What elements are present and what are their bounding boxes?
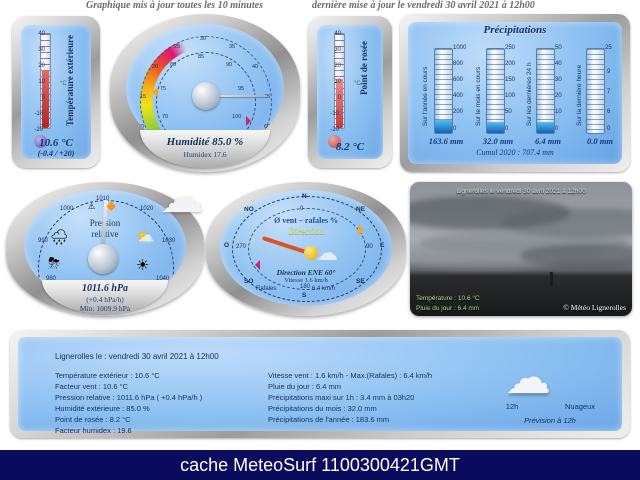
precip-label-year: Sur l'année en cours bbox=[422, 54, 429, 126]
header-right-note: dernière mise à jour le vendredi 30 avri… bbox=[312, 0, 535, 11]
precip-label-hour: Sur la dernière heure bbox=[576, 54, 583, 126]
status-bar-text: cache MeteoSurf 1100300421GMT bbox=[0, 450, 640, 480]
temperature-unit: °C bbox=[60, 81, 67, 87]
forecast-text: Nuageux bbox=[550, 402, 610, 411]
dewpoint-panel[interactable]: 40 30 20 10 0 -10 -20 Point de rosée °C … bbox=[308, 16, 392, 168]
wind-speed-value: Vitesse 1.6 km/h bbox=[220, 277, 392, 284]
summary-right-line-2: Précipitations maxi sur 1h : 3.4 mm à 03… bbox=[268, 392, 432, 403]
temperature-panel[interactable]: 40 30 20 10 0 -10 -20 Température extéri… bbox=[12, 16, 100, 168]
precip-tube-hour bbox=[586, 48, 605, 134]
precip-value-hour: 0.0 mm bbox=[572, 136, 628, 146]
temp-scale-40: 40 bbox=[29, 31, 45, 37]
precip-tube-month bbox=[486, 48, 505, 134]
summary-right-line-0: Vitesse vent : 1.6 km/h - Max.(Rafales) … bbox=[268, 370, 432, 381]
precip-year-tick-400: 400 bbox=[453, 93, 463, 99]
compass-deg-90: 90 bbox=[366, 244, 373, 250]
compass-deg-0: 0 bbox=[300, 206, 303, 212]
storm-icon: ⛈ bbox=[48, 256, 60, 271]
humidity-tick-15: 15 bbox=[140, 94, 146, 100]
wind-compass[interactable]: N NE E SE S SO O NO 0 90 180 270 Ø vent … bbox=[206, 182, 406, 316]
precip-fill-month bbox=[487, 122, 504, 133]
summary-right-line-1: Pluie du jour : 6.4 mm bbox=[268, 381, 432, 392]
weather-dashboard: Graphique mis à jour toutes les 10 minut… bbox=[0, 0, 640, 480]
precip-year-tick-800: 800 bbox=[453, 61, 463, 67]
precip-month-tick-50: 50 bbox=[505, 109, 512, 115]
summary-left-line-2: Pression relative : 1011.6 hPa ( +0.4 hP… bbox=[55, 392, 202, 403]
precipitation-panel[interactable]: Précipitations Sur l'année en cours 1000… bbox=[400, 14, 630, 172]
temp-scale-m10: -10 bbox=[27, 111, 43, 117]
webcam-overlay-temperature: Température : 10.6 °C bbox=[416, 295, 480, 302]
humidity-tick-35: 35 bbox=[229, 44, 235, 50]
status-bar: cache MeteoSurf 1100300421GMT bbox=[0, 450, 640, 480]
wind-gust-value: 6.4 km/h bbox=[312, 286, 335, 292]
header-left-note: Graphique mis à jour toutes les 10 minut… bbox=[86, 0, 263, 11]
forecast-hour: 12h bbox=[492, 402, 532, 411]
precip-month-tick-250: 250 bbox=[505, 45, 515, 51]
wind-cloud-icon: ☁ bbox=[316, 240, 338, 266]
precip-hour-tick-7: 7 bbox=[607, 89, 610, 95]
temp-scale-m20: -20 bbox=[27, 127, 43, 133]
precip-24h-tick-40: 40 bbox=[555, 61, 562, 67]
webcam-mast bbox=[550, 272, 553, 286]
dew-scale-20: 20 bbox=[325, 63, 341, 69]
precip-24h-tick-50: 50 bbox=[555, 45, 562, 51]
precip-fill-24h bbox=[537, 122, 554, 133]
precip-hour-tick-25: 25 bbox=[605, 45, 612, 51]
barometer-min: Min: 1009.9 hPa bbox=[42, 304, 168, 313]
rain-icon: 🌧 bbox=[50, 230, 69, 245]
precip-hour-tick-9: 9 bbox=[607, 69, 610, 75]
compass-o: O bbox=[224, 242, 229, 249]
wind-gust-label: Rafales bbox=[256, 286, 276, 292]
baro-tick-1000: 1000 bbox=[60, 206, 73, 212]
summary-right-line-4: Précipitations de l'année : 183.6 mm bbox=[268, 414, 432, 425]
precip-month-tick-100: 100 bbox=[505, 93, 515, 99]
precip-month-tick-200: 200 bbox=[505, 61, 515, 67]
humidity-right-marker-icon bbox=[246, 116, 256, 126]
precip-cumul-note: Cumul 2020 : 707.4 mm bbox=[400, 148, 630, 157]
summary-left-line-1: Facteur vent : 10.6 °C bbox=[55, 381, 202, 392]
dew-scale-30: 30 bbox=[325, 47, 341, 53]
dewpoint-mercury bbox=[336, 79, 343, 128]
precip-year-tick-1000: 1000 bbox=[453, 45, 466, 51]
summary-left-line-5: Facteur humidex : 19.6 bbox=[55, 425, 202, 436]
barometer-value: 1011.6 hPa bbox=[42, 283, 168, 294]
barometer-warning-icon: ⚠ bbox=[88, 202, 95, 211]
forecast-label: Prévision à 12h bbox=[480, 416, 620, 425]
summary-right-line-3: Précipitations du mois : 32.0 mm bbox=[268, 403, 432, 414]
dew-scale-40: 40 bbox=[325, 31, 341, 37]
temp-scale-20: 20 bbox=[29, 63, 45, 69]
compass-n: N bbox=[302, 193, 307, 200]
summary-date: Lignerolles le : vendredi 30 avril 2021 … bbox=[55, 352, 219, 361]
barometer-alert-icon: 🔶 bbox=[106, 202, 116, 211]
humidity-left-marker-icon bbox=[148, 87, 158, 97]
summary-left-line-4: Point de rosée : 8.2 °C bbox=[55, 414, 202, 425]
humidity-tick-25: 25 bbox=[174, 44, 180, 50]
webcam-caption: Lignerolles le vendredi 30 avril 2021 à … bbox=[410, 188, 632, 195]
precipitation-title: Précipitations bbox=[400, 24, 630, 36]
webcam-panel[interactable]: Lignerolles le vendredi 30 avril 2021 à … bbox=[410, 182, 632, 316]
baro-tick-1020: 1020 bbox=[140, 206, 153, 212]
precip-value-year: 163.6 mm bbox=[418, 136, 474, 146]
sun-cloud-icon: ⛅ bbox=[136, 230, 155, 245]
compass-deg-270: 270 bbox=[236, 244, 246, 250]
humidity-tick-20: 20 bbox=[152, 64, 158, 70]
dew-scale-m10: -10 bbox=[323, 111, 339, 117]
precip-year-tick-0: 0 bbox=[453, 126, 456, 132]
humidity-gauge[interactable]: 30 25 35 20 40 15 45 50 60 85 80 90 75 9… bbox=[110, 14, 300, 172]
summary-left-line-0: Température extérieur : 10.6 °C bbox=[55, 370, 202, 381]
precip-24h-tick-30: 30 bbox=[555, 77, 562, 83]
barometer-plate: 1011.6 hPa (+0.4 hPa/h) Min: 1009.9 hPa bbox=[42, 280, 168, 314]
dewpoint-value: 8.2 °C bbox=[317, 141, 383, 153]
humidity-inner-tick-95: 95 bbox=[238, 86, 244, 92]
precip-fill-year bbox=[435, 120, 452, 133]
humidity-inner-tick-70: 70 bbox=[162, 114, 168, 120]
dew-scale-0: 0 bbox=[325, 95, 341, 101]
humidity-tick-40: 40 bbox=[252, 64, 258, 70]
temp-scale-30: 30 bbox=[29, 47, 45, 53]
compass-no: NO bbox=[244, 206, 254, 213]
humidity-tick-30: 30 bbox=[200, 36, 206, 42]
dew-scale-10: 10 bbox=[325, 79, 341, 85]
precip-hour-tick-0: 0 bbox=[607, 126, 610, 132]
humidity-inner-tick-90: 90 bbox=[226, 62, 232, 68]
compass-e: E bbox=[380, 242, 384, 249]
precip-tube-24h bbox=[536, 48, 555, 134]
compass-ne: NE bbox=[356, 206, 365, 213]
wind-direction-value: Direction ENE 60° bbox=[220, 268, 392, 277]
compass-deg-180: 180 bbox=[300, 284, 310, 290]
humidity-value: Humidité 85.0 % bbox=[140, 136, 270, 148]
temp-scale-10: 10 bbox=[29, 79, 45, 85]
precip-label-24h: Sur les dernières 24 h bbox=[526, 54, 533, 126]
dew-scale-m20: -20 bbox=[323, 127, 339, 133]
precip-year-tick-200: 200 bbox=[453, 109, 463, 115]
precip-24h-tick-0: 0 bbox=[555, 126, 558, 132]
webcam-watermark: © Météo Lignerolles bbox=[563, 303, 626, 312]
humidity-inner-tick-80: 80 bbox=[170, 62, 176, 68]
precip-24h-tick-10: 10 bbox=[555, 109, 562, 115]
precip-label-month: Sur le mois en cours bbox=[475, 54, 482, 126]
humidity-inner-tick-100: 100 bbox=[232, 114, 241, 120]
precip-value-month: 32.0 mm bbox=[470, 136, 526, 146]
summary-panel[interactable]: Lignerolles le : vendredi 30 avril 2021 … bbox=[10, 330, 630, 438]
temp-scale-0: 0 bbox=[29, 95, 45, 101]
humidity-hub bbox=[192, 82, 220, 110]
precip-month-tick-0: 0 bbox=[505, 126, 508, 132]
summary-left-line-3: Humidité extérieure : 85.0 % bbox=[55, 403, 202, 414]
precip-24h-tick-20: 20 bbox=[555, 93, 562, 99]
webcam-overlay-rain: Pluie du jour : 6.4 mm bbox=[416, 305, 479, 312]
sun-icon: ☀ bbox=[136, 258, 149, 273]
decorative-cloud-icon: ☁ bbox=[160, 172, 204, 223]
humidex-value: Humidex 17.6 bbox=[140, 150, 270, 159]
barometer-trend: (+0.4 hPa/h) bbox=[42, 295, 168, 304]
barometer-hub bbox=[88, 244, 118, 274]
precip-tube-year bbox=[434, 48, 453, 134]
compass-s: S bbox=[302, 292, 306, 299]
temperature-minmax: (-0.4 / +20) bbox=[21, 149, 91, 158]
precip-hour-tick-6: 6 bbox=[607, 109, 610, 115]
wind-gust-marker-icon bbox=[358, 224, 370, 236]
precip-month-tick-150: 150 bbox=[505, 77, 515, 83]
forecast-cloud-icon: ☁ bbox=[505, 354, 551, 400]
humidity-inner-tick-85: 85 bbox=[198, 54, 204, 60]
precip-value-24h: 6.4 mm bbox=[520, 136, 576, 146]
precip-year-tick-600: 600 bbox=[453, 77, 463, 83]
dewpoint-unit: °C bbox=[354, 81, 361, 87]
humidity-inner-tick-75: 75 bbox=[160, 86, 166, 92]
temperature-value: 10.6 °C bbox=[21, 137, 91, 149]
